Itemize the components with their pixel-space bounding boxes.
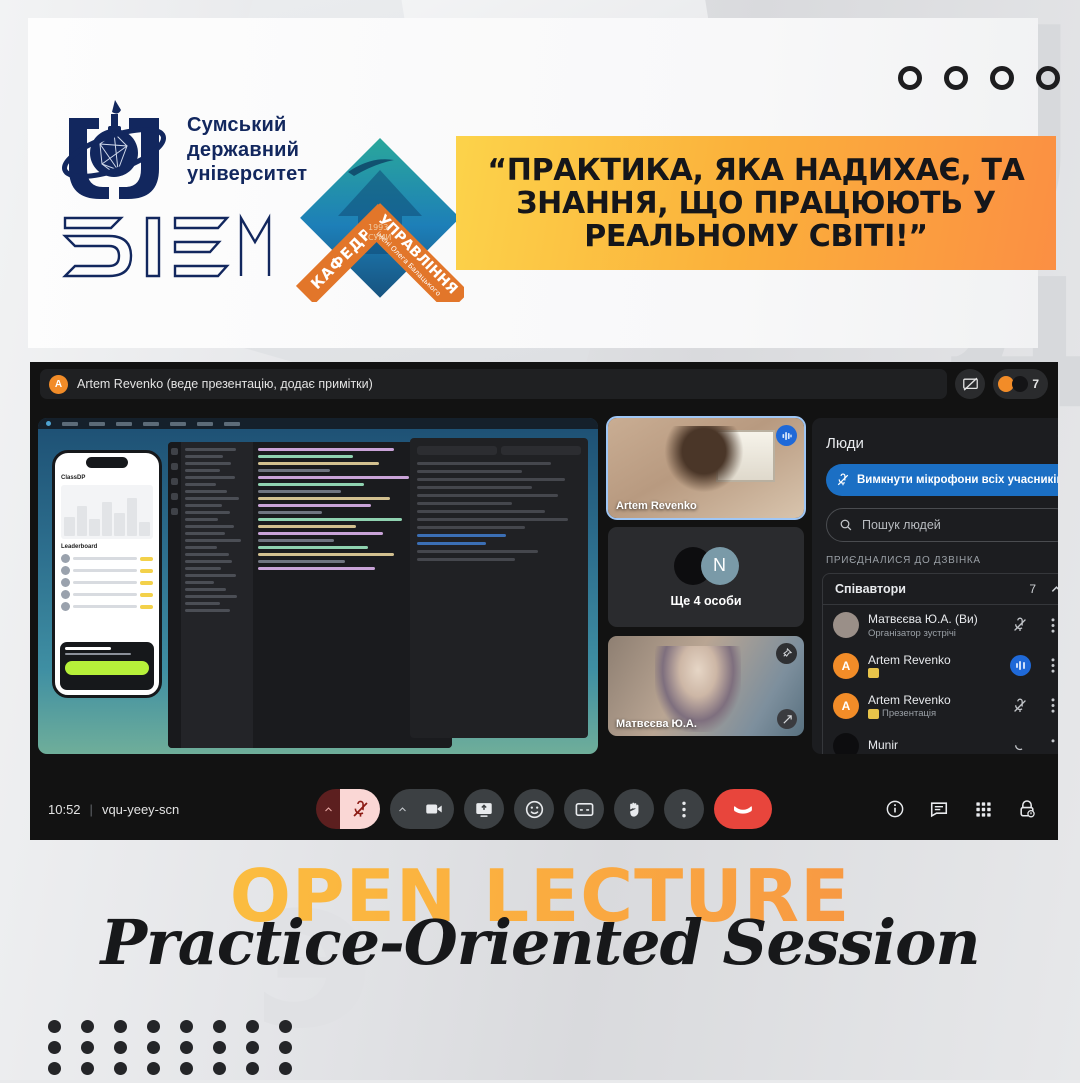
camera-icon bbox=[424, 799, 444, 819]
chevron-up-icon bbox=[1050, 583, 1058, 596]
participant-name: Munir bbox=[868, 738, 999, 754]
participant-row[interactable]: A Artem Revenko Презентація bbox=[823, 686, 1058, 727]
search-placeholder: Пошук людей bbox=[862, 518, 941, 532]
mic-off-icon bbox=[1012, 617, 1028, 633]
presentation-chip-icon bbox=[868, 709, 879, 719]
more-vertical-icon bbox=[682, 801, 686, 818]
phone-cta-button bbox=[65, 661, 149, 675]
captions-button[interactable] bbox=[564, 789, 604, 829]
avatar: N bbox=[701, 547, 739, 585]
phone-notch bbox=[86, 457, 128, 468]
camera-options-button[interactable] bbox=[390, 789, 414, 829]
tile-background-window bbox=[716, 430, 775, 482]
participant-role-wrap: Презентація bbox=[868, 708, 999, 719]
shared-os-menubar bbox=[38, 418, 598, 429]
more-options-button[interactable] bbox=[664, 789, 704, 829]
host-lock-icon bbox=[1017, 799, 1037, 819]
speaking-indicator-icon bbox=[776, 425, 797, 446]
university-name-line: Сумський bbox=[187, 113, 307, 137]
more-vertical-icon bbox=[1051, 658, 1055, 673]
participant-mic-status[interactable] bbox=[1008, 698, 1032, 714]
more-people-label: Ще 4 особи bbox=[670, 594, 741, 608]
meeting-code: vqu-yeey-scn bbox=[102, 802, 179, 817]
editor-file-tree bbox=[181, 442, 253, 748]
mic-off-icon bbox=[836, 473, 850, 487]
people-panel: Люди Вимкнути мікрофони всіх учасників bbox=[812, 418, 1058, 754]
tile-matveeva[interactable]: Матвєєва Ю.А. bbox=[608, 636, 804, 736]
university-name-line: державний bbox=[187, 138, 307, 162]
university-name-line: університет bbox=[187, 162, 307, 186]
search-people-input[interactable]: Пошук людей bbox=[826, 508, 1058, 542]
people-panel-title: Люди bbox=[826, 435, 864, 452]
raise-hand-button[interactable] bbox=[614, 789, 654, 829]
screen-off-icon bbox=[962, 376, 979, 393]
contributors-group-header[interactable]: Співавтори 7 bbox=[823, 574, 1058, 605]
participant-row[interactable]: Munir bbox=[823, 726, 1058, 754]
captions-icon bbox=[574, 799, 595, 820]
participant-count: 7 bbox=[1032, 377, 1039, 391]
expand-tile-button[interactable] bbox=[777, 709, 797, 729]
tile-more-people[interactable]: N Ще 4 особи bbox=[608, 527, 804, 627]
contributors-group: Співавтори 7 Матвєєва Ю.А. (Ви) Організа… bbox=[822, 573, 1058, 754]
mic-off-icon bbox=[1012, 738, 1028, 754]
tile-artem-revenko[interactable]: Artem Revenko bbox=[608, 418, 804, 518]
group-count: 7 bbox=[1029, 582, 1036, 596]
dot-grid-decoration bbox=[48, 1020, 312, 1083]
reactions-button[interactable] bbox=[514, 789, 554, 829]
more-vertical-icon bbox=[1051, 739, 1055, 754]
pin-icon bbox=[776, 643, 797, 664]
ring-icon bbox=[944, 66, 968, 90]
avatar: A bbox=[833, 653, 859, 679]
participant-more-button[interactable] bbox=[1041, 618, 1058, 633]
host-controls-button[interactable] bbox=[1014, 789, 1040, 829]
headline-banner: “ПРАКТИКА, ЯКА НАДИХАЄ, ТА ЗНАННЯ, ЩО ПР… bbox=[456, 136, 1056, 270]
group-label: Співавтори bbox=[835, 582, 906, 596]
joined-section-label: ПРИЄДНАЛИСЯ ДО ДЗВІНКА bbox=[812, 542, 1058, 573]
university-name: Сумський державний університет bbox=[187, 113, 307, 186]
shared-phone-mockup: ClassDP Leaderboard bbox=[52, 450, 162, 698]
meeting-top-bar: A Artem Revenko (веде презентацію, додає… bbox=[30, 362, 1058, 406]
activities-button[interactable] bbox=[970, 789, 996, 829]
meeting-time: 10:52 bbox=[48, 802, 81, 817]
camera-toggle[interactable] bbox=[414, 789, 454, 829]
close-icon bbox=[1055, 432, 1058, 449]
mic-button[interactable] bbox=[316, 789, 380, 829]
participant-mic-status[interactable] bbox=[1008, 655, 1032, 676]
participant-row[interactable]: Матвєєва Ю.А. (Ви) Організатор зустрічі bbox=[823, 605, 1058, 646]
search-icon bbox=[839, 518, 853, 532]
participant-more-button[interactable] bbox=[1041, 698, 1058, 713]
video-meeting-window: A Artem Revenko (веде презентацію, додає… bbox=[30, 362, 1058, 840]
end-call-button[interactable] bbox=[714, 789, 772, 829]
emoji-icon bbox=[524, 799, 545, 820]
more-vertical-icon bbox=[1051, 698, 1055, 713]
meeting-controls-bar: 10:52 | vqu-yeey-scn bbox=[30, 778, 1058, 840]
end-call-icon bbox=[731, 797, 755, 821]
presenter-avatar: A bbox=[49, 375, 68, 394]
mute-all-label: Вимкнути мікрофони всіх учасників bbox=[857, 474, 1058, 486]
presentation-chip-icon bbox=[868, 668, 879, 678]
tile-name: Artem Revenko bbox=[616, 500, 697, 512]
chat-button[interactable] bbox=[926, 789, 952, 829]
logo-group: Сумський державний університет bbox=[55, 96, 307, 289]
more-vertical-icon bbox=[1051, 618, 1055, 633]
info-icon bbox=[885, 799, 905, 819]
participant-mic-status[interactable] bbox=[1008, 617, 1032, 633]
mute-all-button[interactable]: Вимкнути мікрофони всіх учасників bbox=[826, 464, 1058, 496]
presenter-banner: A Artem Revenko (веде презентацію, додає… bbox=[40, 369, 947, 399]
phone-app-title: ClassDP bbox=[61, 475, 153, 481]
participant-name: Матвєєва Ю.А. (Ви) bbox=[868, 612, 999, 628]
mic-options-button[interactable] bbox=[316, 789, 340, 829]
present-screen-icon bbox=[474, 799, 494, 819]
participant-count-button[interactable]: 7 bbox=[993, 369, 1048, 399]
participant-row[interactable]: A Artem Revenko bbox=[823, 646, 1058, 686]
phone-cta-card bbox=[60, 642, 154, 690]
ring-decoration bbox=[898, 66, 1060, 90]
phone-chart bbox=[61, 485, 153, 539]
activities-grid-icon bbox=[974, 800, 993, 819]
avatar bbox=[833, 612, 859, 638]
footer-titles: OPEN LECTURE Practice-Oriented Session bbox=[0, 862, 1080, 979]
ring-icon bbox=[898, 66, 922, 90]
editor-activity-bar bbox=[168, 442, 181, 748]
svg-text:СУМИ: СУМИ bbox=[368, 233, 391, 242]
stop-presenting-button[interactable] bbox=[955, 369, 985, 399]
mic-toggle[interactable] bbox=[340, 789, 380, 829]
participant-name: Artem Revenko bbox=[868, 653, 999, 669]
shared-assistant-panel bbox=[410, 438, 588, 738]
participant-role: Презентація bbox=[882, 708, 936, 719]
meeting-info: 10:52 | vqu-yeey-scn bbox=[48, 802, 316, 817]
shared-screen-stage[interactable]: ClassDP Leaderboard bbox=[38, 418, 598, 754]
ring-icon bbox=[990, 66, 1014, 90]
meeting-details-button[interactable] bbox=[882, 789, 908, 829]
svg-text:1993: 1993 bbox=[368, 223, 388, 232]
mic-off-icon bbox=[351, 800, 370, 819]
presenter-banner-text: Artem Revenko (веде презентацію, додає п… bbox=[77, 377, 373, 391]
present-screen-button[interactable] bbox=[464, 789, 504, 829]
participant-role: Організатор зустрічі bbox=[868, 628, 999, 639]
tile-name: Матвєєва Ю.А. bbox=[616, 718, 697, 730]
avatar: A bbox=[833, 693, 859, 719]
people-panel-header: Люди bbox=[812, 418, 1058, 464]
divider: | bbox=[90, 802, 93, 817]
ssu-emblem-icon bbox=[55, 96, 173, 204]
participant-more-button[interactable] bbox=[1041, 658, 1058, 673]
chevron-up-icon bbox=[324, 805, 333, 814]
avatar bbox=[833, 733, 859, 754]
participant-name: Artem Revenko bbox=[868, 693, 999, 709]
department-badge-logo: КАФЕДРА УПРАВЛІННЯ імені Олега Балацьког… bbox=[296, 134, 464, 302]
ring-icon bbox=[1036, 66, 1060, 90]
participant-tiles: Artem Revenko N Ще 4 особи Матвєєва Ю.А. bbox=[608, 418, 804, 745]
chevron-up-icon bbox=[398, 805, 407, 814]
speaking-indicator-icon bbox=[1010, 655, 1031, 676]
biem-logo-icon bbox=[59, 212, 271, 284]
participant-role bbox=[868, 668, 999, 678]
footer-subtitle: Practice-Oriented Session bbox=[0, 906, 1080, 979]
participant-mic-status[interactable] bbox=[1008, 738, 1032, 754]
participant-more-button[interactable] bbox=[1041, 739, 1058, 754]
raise-hand-icon bbox=[625, 800, 644, 819]
chat-icon bbox=[929, 799, 949, 819]
camera-button[interactable] bbox=[390, 789, 454, 829]
mic-off-icon bbox=[1012, 698, 1028, 714]
headline-text: “ПРАКТИКА, ЯКА НАДИХАЄ, ТА ЗНАННЯ, ЩО ПР… bbox=[472, 154, 1040, 253]
more-avatars: N bbox=[674, 547, 739, 585]
avatar bbox=[1012, 376, 1028, 392]
phone-leaderboard-title: Leaderboard bbox=[61, 544, 153, 550]
close-panel-button[interactable] bbox=[1055, 432, 1058, 454]
